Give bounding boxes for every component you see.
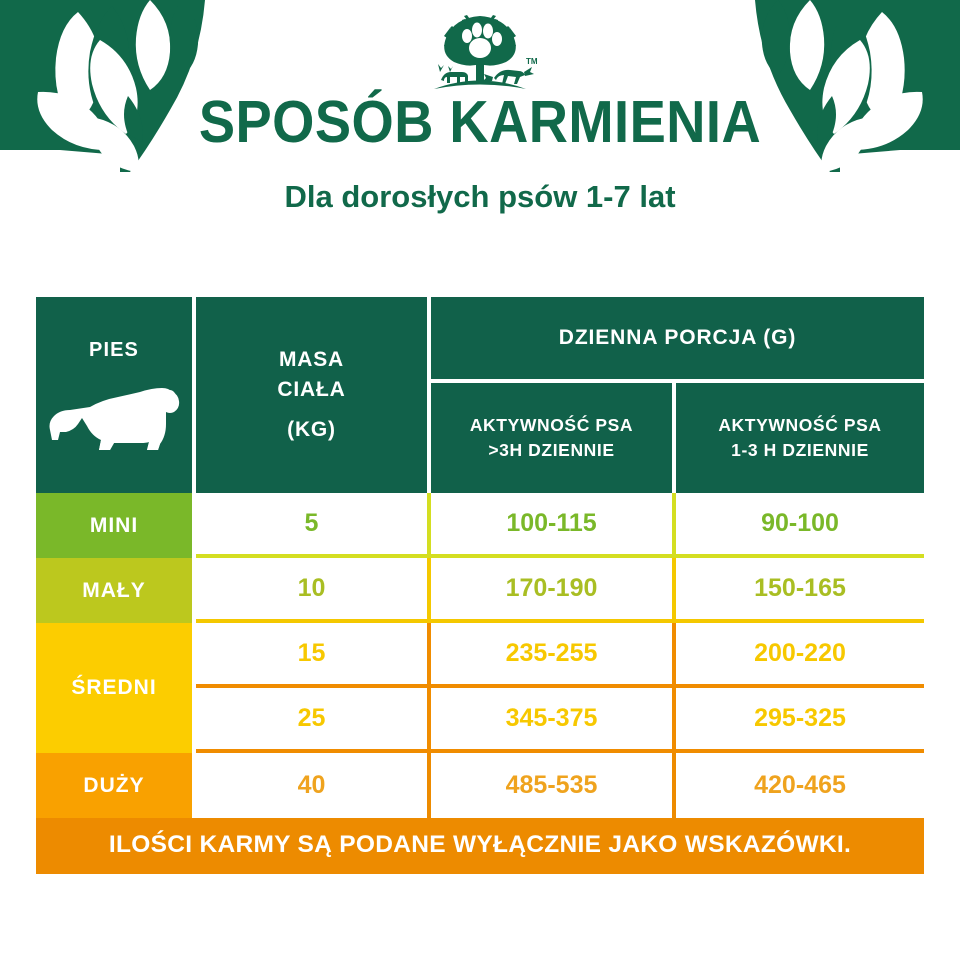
row-label-2: MAŁY [36, 558, 196, 623]
page-header: TM SPOSÓB KARMIENIA Dla dorosłych psów 1… [0, 0, 960, 240]
page-title: SPOSÓB KARMIENIA [38, 90, 921, 154]
column-header-body-mass: MASA CIAŁA (KG) [196, 297, 431, 493]
trademark-mark: TM [526, 57, 538, 66]
row-label-text: ŚREDNI [71, 676, 156, 700]
row-label-3: ŚREDNI [36, 623, 196, 753]
cell-portion-high-activity: 100-115 [431, 493, 676, 558]
body-mass-line-2: CIAŁA [277, 375, 345, 405]
body-mass-line-3: (KG) [287, 415, 336, 445]
cell-body-mass: 40 [196, 753, 431, 818]
activity-low-line-1: AKTYWNOŚĆ PSA [718, 413, 881, 438]
cell-portion-high-activity: 170-190 [431, 558, 676, 623]
column-header-daily-portion: DZIENNA PORCJA (G) [431, 297, 924, 383]
activity-high-line-2: >3H DZIENNIE [470, 438, 633, 463]
cell-portion-low-activity: 295-325 [676, 688, 924, 753]
cell-portion-high-activity: 235-255 [431, 623, 676, 688]
row-label-4: DUŻY [36, 753, 196, 818]
column-header-activity-low: AKTYWNOŚĆ PSA 1-3 H DZIENNIE [676, 383, 924, 493]
brand-logo: TM [0, 14, 960, 96]
cell-portion-low-activity: 150-165 [676, 558, 924, 623]
cell-portion-high-activity: 345-375 [431, 688, 676, 753]
cell-portion-low-activity: 420-465 [676, 753, 924, 818]
footer-note: ILOŚCI KARMY SĄ PODANE WYŁĄCZNIE JAKO WS… [36, 818, 924, 874]
cell-body-mass: 15 [196, 623, 431, 688]
cell-portion-low-activity: 200-220 [676, 623, 924, 688]
feeding-table: PIES MASA CIAŁA (KG) DZIENNA PORCJA (G) … [36, 297, 924, 874]
cell-body-mass: 5 [196, 493, 431, 558]
body-mass-line-1: MASA [279, 345, 344, 375]
row-label-text: MINI [90, 514, 138, 538]
dog-silhouette-icon [44, 370, 184, 458]
column-header-dog-label: PIES [89, 339, 139, 362]
cell-portion-high-activity: 485-535 [431, 753, 676, 818]
cell-portion-low-activity: 90-100 [676, 493, 924, 558]
row-label-1: MINI [36, 493, 196, 558]
page-subtitle: Dla dorosłych psów 1-7 lat [0, 178, 960, 216]
column-header-dog: PIES [36, 297, 196, 493]
activity-low-line-2: 1-3 H DZIENNIE [718, 438, 881, 463]
row-label-text: MAŁY [82, 579, 146, 603]
column-header-activity-high: AKTYWNOŚĆ PSA >3H DZIENNIE [431, 383, 676, 493]
cell-body-mass: 10 [196, 558, 431, 623]
activity-high-line-1: AKTYWNOŚĆ PSA [470, 413, 633, 438]
cell-body-mass: 25 [196, 688, 431, 753]
row-label-text: DUŻY [83, 774, 144, 798]
